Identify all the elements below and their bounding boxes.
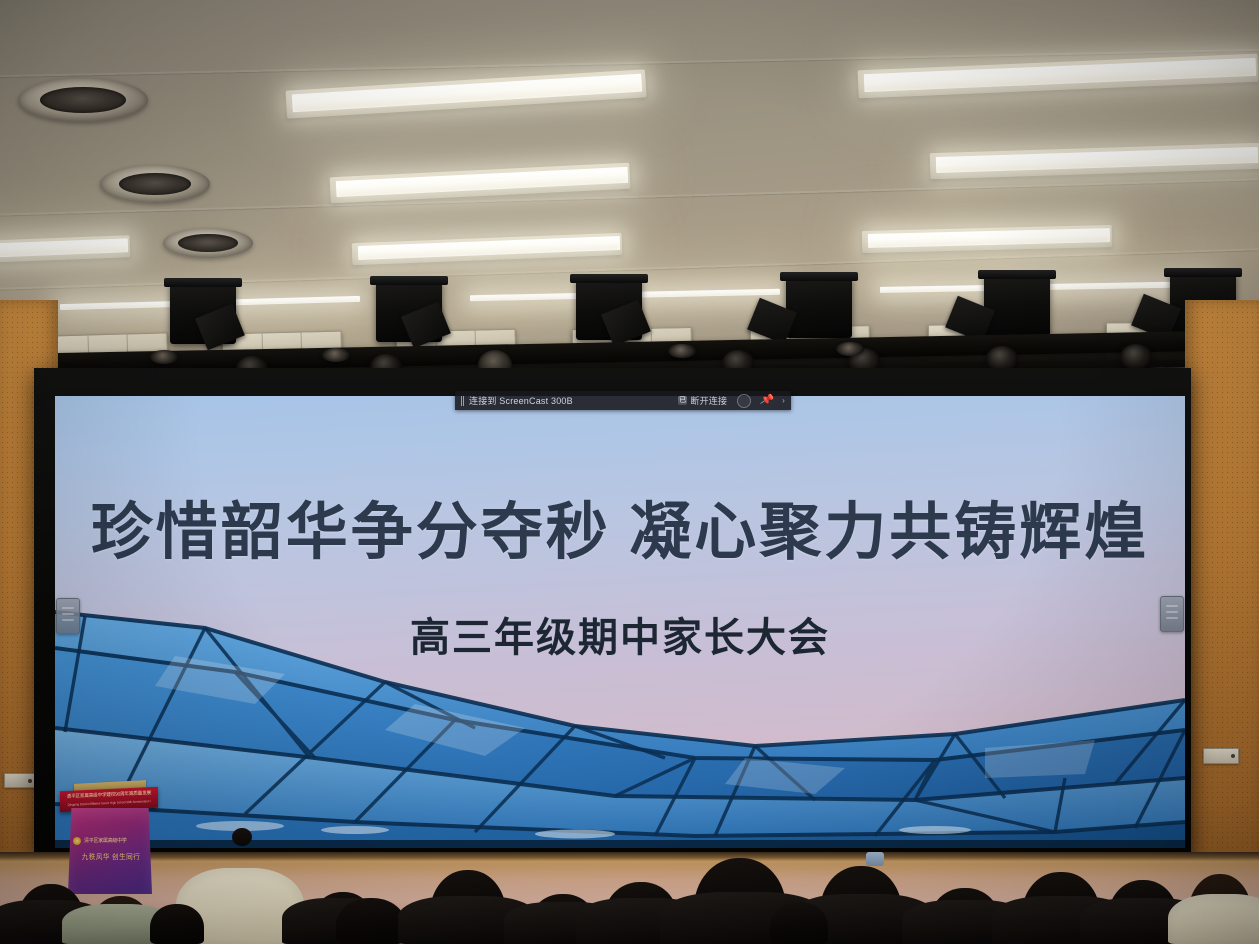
audience-head xyxy=(336,898,406,944)
stage-lighting-truss xyxy=(0,272,1259,380)
moving-head-light-icon xyxy=(786,276,852,338)
hair-clip xyxy=(866,852,884,866)
audience-head xyxy=(770,902,828,944)
more-icon[interactable]: › xyxy=(782,396,785,405)
refresh-icon[interactable] xyxy=(737,394,751,408)
disconnect-button[interactable]: 已 断开连接 xyxy=(678,394,727,407)
speaker-icon xyxy=(836,342,864,356)
ceiling-vent-icon xyxy=(18,78,148,122)
slide-title: 珍惜韶华争分夺秒 凝心聚力共铸辉煌 xyxy=(55,502,1185,564)
light-switch-icon[interactable] xyxy=(1203,748,1239,764)
ir-touch-sensor-icon xyxy=(1160,596,1184,632)
disconnect-label: 断开连接 xyxy=(690,394,727,407)
auditorium-photo: 珍惜韶华争分夺秒 凝心聚力共铸辉煌 高三年级期中家长大会 连接到 ScreenC… xyxy=(0,0,1259,944)
audience-rows xyxy=(0,824,1259,944)
ir-touch-sensor-icon xyxy=(56,598,80,634)
light-switch-icon[interactable] xyxy=(4,773,36,788)
speaker-icon xyxy=(322,348,350,362)
power-icon: 已 xyxy=(678,396,687,405)
moving-head-light-icon xyxy=(984,274,1050,336)
audience-head xyxy=(150,904,204,944)
ceiling-vent-icon xyxy=(163,228,253,258)
speaker-icon xyxy=(150,350,178,364)
drag-handle-icon[interactable] xyxy=(461,396,464,406)
screencast-status-bar[interactable]: 连接到 ScreenCast 300B 已 断开连接 📌 › xyxy=(455,391,791,410)
pin-icon[interactable]: 📌 xyxy=(759,394,775,408)
par-can-light-icon xyxy=(1120,344,1152,370)
hair-bun xyxy=(232,828,252,846)
ceiling-vent-icon xyxy=(100,165,210,203)
presentation-screen[interactable]: 珍惜韶华争分夺秒 凝心聚力共铸辉煌 高三年级期中家长大会 xyxy=(55,396,1185,848)
audience-body xyxy=(1168,894,1259,944)
slide-subtitle: 高三年级期中家长大会 xyxy=(55,618,1185,658)
screencast-status-label: 连接到 ScreenCast 300B xyxy=(469,394,573,407)
speaker-icon xyxy=(668,344,696,358)
